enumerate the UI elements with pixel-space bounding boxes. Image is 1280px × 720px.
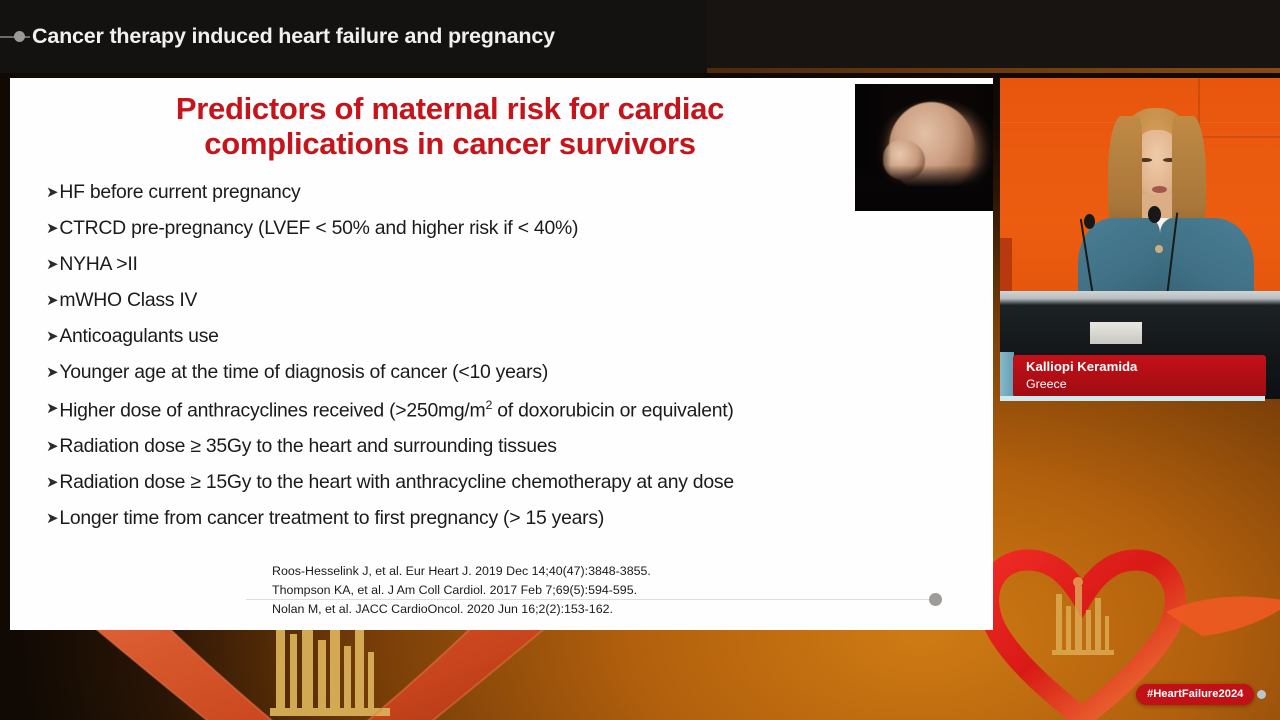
slide-title-line1: Predictors of maternal risk for cardiac [70,92,830,127]
list-item-label: CTRCD pre-pregnancy (LVEF < 50% and high… [59,219,946,238]
list-item: ➤ Higher dose of anthracyclines received… [46,399,946,421]
hashtag-dot-icon [1257,690,1266,699]
speaker-video[interactable] [1000,78,1280,399]
microphone-right-head [1148,206,1161,223]
list-item-label: Radiation dose ≥ 35Gy to the heart and s… [59,437,946,456]
slide-progress-line [246,599,936,600]
list-item: ➤ CTRCD pre-pregnancy (LVEF < 50% and hi… [46,219,946,238]
list-item: ➤ Radiation dose ≥ 15Gy to the heart wit… [46,473,946,492]
list-item-label: NYHA >II [59,255,946,274]
page-title: Cancer therapy induced heart failure and… [32,24,555,49]
list-item: ➤ Radiation dose ≥ 35Gy to the heart and… [46,437,946,456]
list-item: ➤ Younger age at the time of diagnosis o… [46,363,946,382]
speaker-name: Kalliopi Keramida [1026,359,1266,376]
list-item-label: Longer time from cancer treatment to fir… [59,509,946,528]
list-item: ➤ mWHO Class IV [46,291,946,310]
list-item-label: Higher dose of anthracyclines received (… [59,399,946,421]
slide-progress-dot-icon[interactable] [929,593,942,606]
slide-title-line2: complications in cancer survivors [70,127,830,162]
list-item-label: HF before current pregnancy [59,183,946,202]
list-item: ➤ Longer time from cancer treatment to f… [46,509,946,528]
slide-title: Predictors of maternal risk for cardiac … [70,92,830,161]
microphone-left-head [1084,214,1095,229]
speaker-mouth [1152,186,1167,193]
screen: Cancer therapy induced heart failure and… [0,0,1280,720]
list-item-label: mWHO Class IV [59,291,946,310]
banner-underline [1000,396,1265,401]
arrow-bullet-icon: ➤ [46,255,58,274]
speaker-name-banner: Kalliopi Keramida Greece [1013,355,1266,397]
progress-dot-icon[interactable] [14,31,25,42]
hashtag-badge: #HeartFailure2024 [1136,684,1254,705]
reference-item: Nolan M, et al. JACC CardioOncol. 2020 J… [272,600,651,619]
reference-item: Thompson KA, et al. J Am Coll Cardiol. 2… [272,581,651,600]
slide-panel: Predictors of maternal risk for cardiac … [10,78,993,630]
arrow-bullet-icon: ➤ [46,473,58,492]
banner-side-accent [1000,352,1014,400]
backdrop-strip [1000,238,1012,298]
arrow-bullet-icon: ➤ [46,183,58,202]
list-item: ➤ Anticoagulants use [46,327,946,346]
bullet-list: ➤ HF before current pregnancy ➤ CTRCD pr… [46,183,946,545]
backdrop-seam [1198,136,1280,138]
list-item: ➤ NYHA >II [46,255,946,274]
arrow-bullet-icon: ➤ [46,219,58,238]
arrow-bullet-icon: ➤ [46,291,58,310]
arrow-bullet-icon: ➤ [46,363,58,382]
reference-item: Roos-Hesselink J, et al. Eur Heart J. 20… [272,562,651,581]
speaker-necklace [1155,245,1163,253]
reference-list: Roos-Hesselink J, et al. Eur Heart J. 20… [272,562,651,619]
list-item: ➤ HF before current pregnancy [46,183,946,202]
arrow-bullet-icon: ➤ [46,437,58,456]
podium-plate [1090,322,1142,344]
list-item-label: Younger age at the time of diagnosis of … [59,363,946,382]
list-item-label: Radiation dose ≥ 15Gy to the heart with … [59,473,946,492]
arrow-bullet-icon: ➤ [46,509,58,528]
header-underline [707,68,1280,73]
header-filler [707,0,1280,73]
arrow-bullet-icon: ➤ [46,399,58,418]
photo-shadow-right [970,84,993,211]
presentation-header: Cancer therapy induced heart failure and… [0,0,707,73]
list-item-label: Anticoagulants use [59,327,946,346]
speaker-country: Greece [1026,376,1266,392]
arrow-bullet-icon: ➤ [46,327,58,346]
